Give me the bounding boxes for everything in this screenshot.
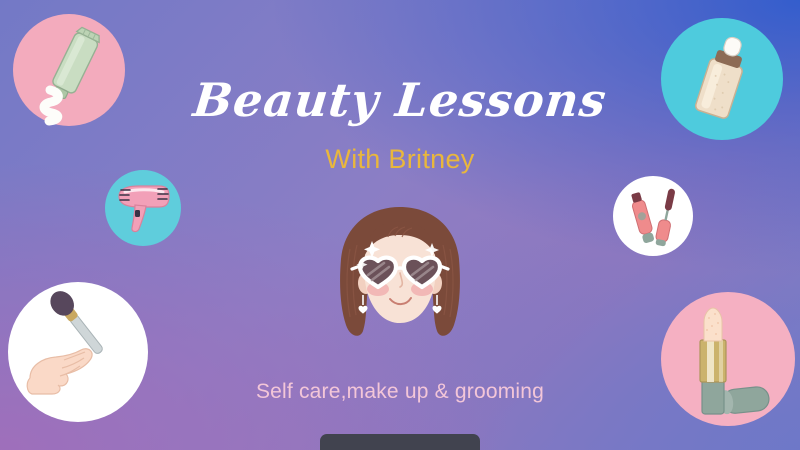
hair-dryer-icon — [105, 170, 181, 246]
player-toolbar-stub[interactable] — [320, 434, 480, 450]
mascara-set-icon — [613, 176, 693, 256]
tagline: Self care,make up & grooming — [0, 378, 800, 406]
badge-mascara-set — [613, 176, 693, 256]
portrait-illustration — [310, 203, 490, 358]
badge-hair-dryer — [105, 170, 181, 246]
woman-with-heart-sunglasses-icon — [310, 203, 490, 358]
page-title: Beauty Lessons — [0, 72, 800, 128]
presenter-subtitle: With Britney — [0, 142, 800, 176]
presentation-slide: Beauty Lessons With Britney Self care,ma… — [0, 0, 800, 450]
